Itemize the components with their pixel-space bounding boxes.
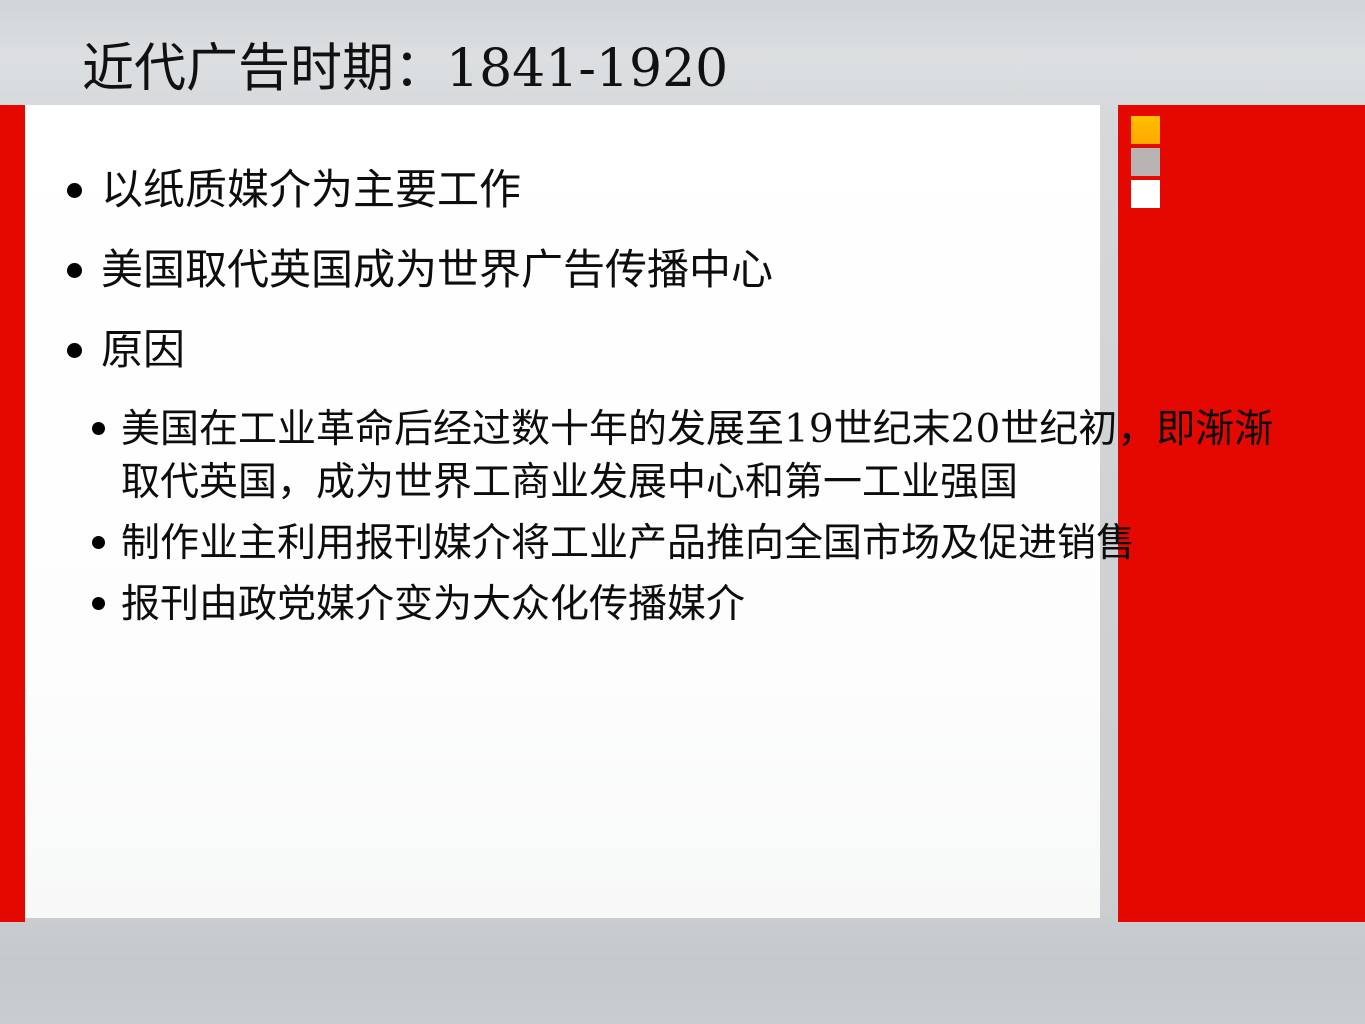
sub-bullet-text: 报刊由政党媒介变为大众化传播媒介 xyxy=(121,582,745,627)
bullet-text: 原因 xyxy=(101,325,185,374)
bullet-item-level1: 原因 xyxy=(25,323,1285,377)
bullet-item-level2: 美国在工业革命后经过数十年的发展至19世纪末20世纪初，即渐渐取代英国，成为世界… xyxy=(25,403,1285,509)
bullet-list-level1: 以纸质媒介为主要工作 美国取代英国成为世界广告传播中心 原因 美国在工业革命后经… xyxy=(25,163,1285,631)
bullet-item-level1: 美国取代英国成为世界广告传播中心 xyxy=(25,243,1285,297)
bullet-list-level2: 美国在工业革命后经过数十年的发展至19世纪末20世纪初，即渐渐取代英国，成为世界… xyxy=(25,403,1285,631)
bullet-marker-icon xyxy=(67,343,82,358)
sub-bullet-marker-icon xyxy=(92,422,105,435)
sub-bullet-marker-icon xyxy=(92,536,105,549)
sub-bullet-text: 制作业主利用报刊媒介将工业产品推向全国市场及促进销售 xyxy=(121,521,1135,566)
bullet-marker-icon xyxy=(67,263,82,278)
slide-canvas: 近代广告时期：1841-1920 以纸质媒介为主要工作 美国取代英国成为世界广告… xyxy=(0,0,1365,1024)
body-content: 以纸质媒介为主要工作 美国取代英国成为世界广告传播中心 原因 美国在工业革命后经… xyxy=(25,105,1285,918)
bullet-text: 美国取代英国成为世界广告传播中心 xyxy=(101,245,773,294)
slide-title: 近代广告时期：1841-1920 xyxy=(82,38,728,100)
bullet-item-level2: 制作业主利用报刊媒介将工业产品推向全国市场及促进销售 xyxy=(25,517,1285,570)
sub-bullet-marker-icon xyxy=(92,597,105,610)
bullet-item-level2: 报刊由政党媒介变为大众化传播媒介 xyxy=(25,578,1285,631)
sub-bullet-text: 美国在工业革命后经过数十年的发展至19世纪末20世纪初，即渐渐取代英国，成为世界… xyxy=(121,407,1273,505)
left-red-accent-bar xyxy=(0,105,25,922)
bullet-item-level1: 以纸质媒介为主要工作 xyxy=(25,163,1285,217)
bullet-marker-icon xyxy=(67,183,82,198)
bullet-text: 以纸质媒介为主要工作 xyxy=(101,165,521,214)
